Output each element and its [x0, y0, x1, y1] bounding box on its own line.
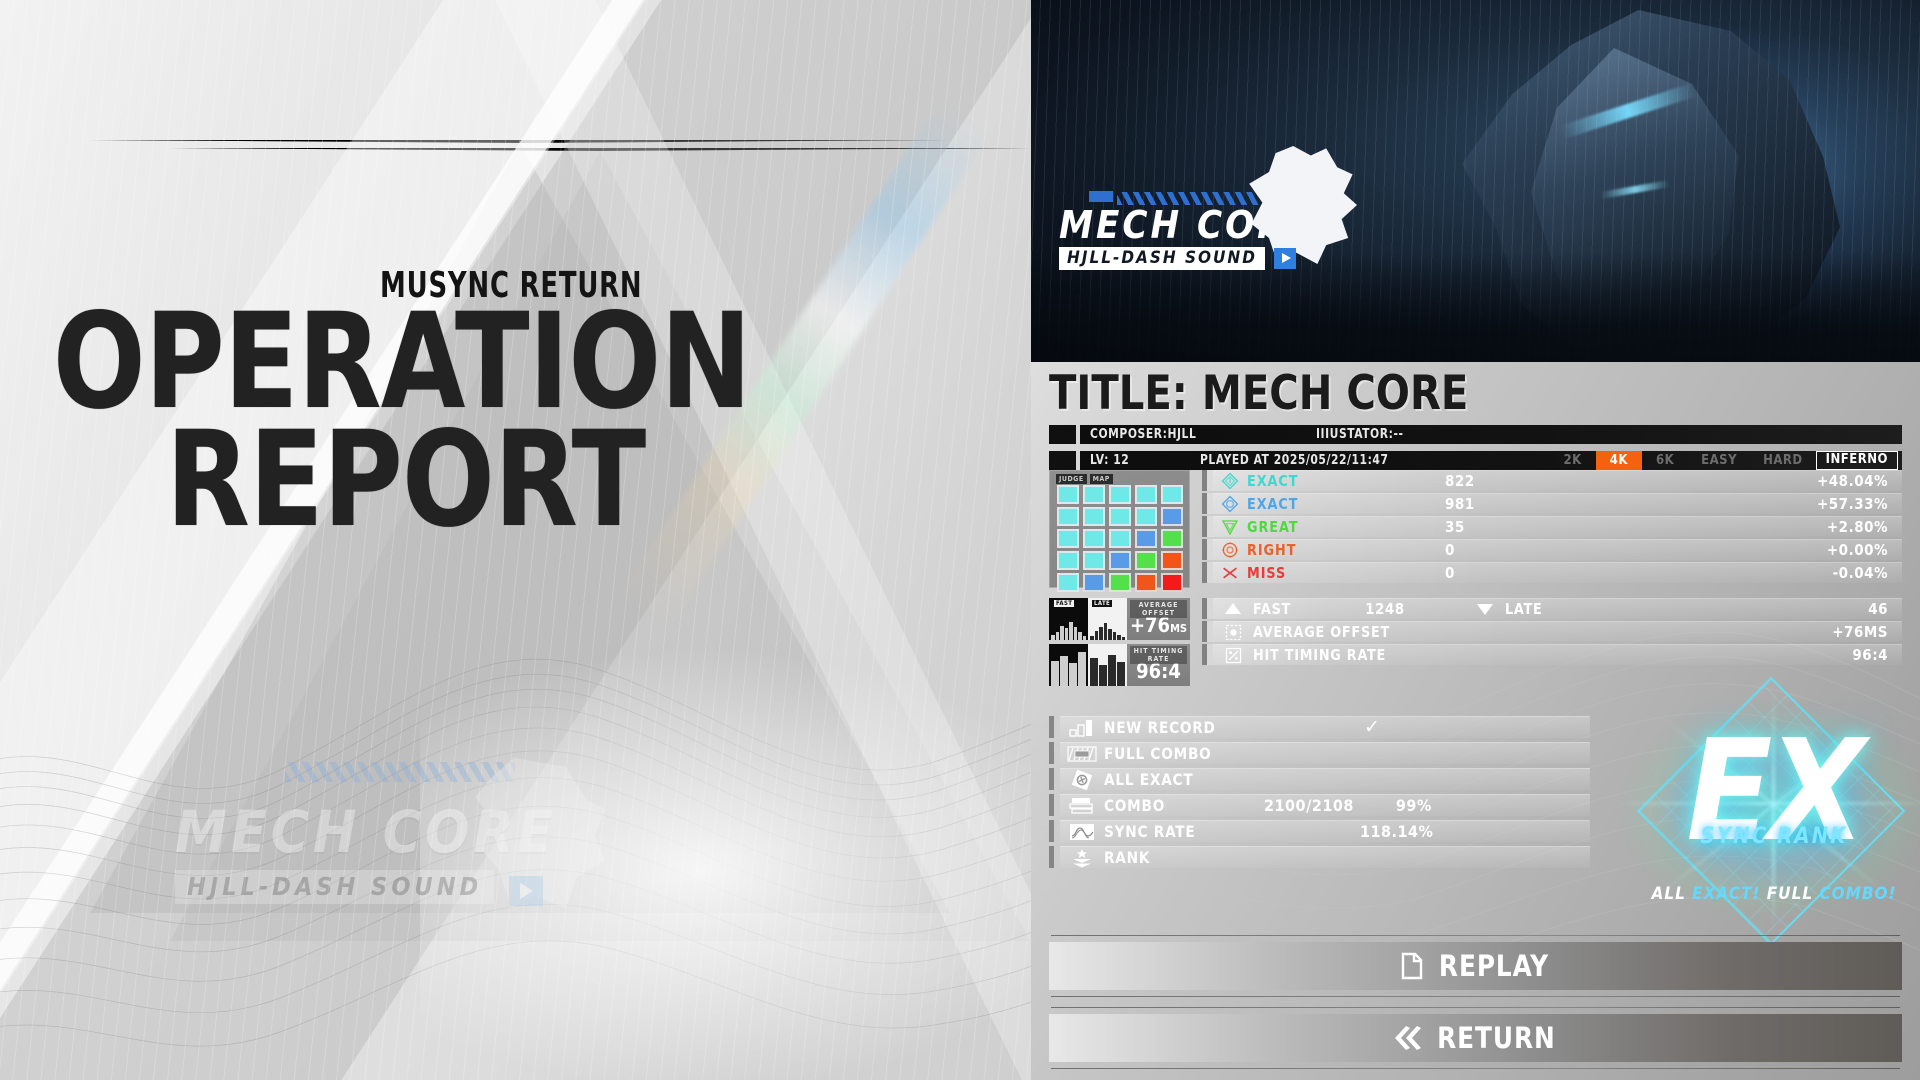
judge-map-cell [1109, 551, 1131, 570]
average-offset-unit: MS [1170, 622, 1187, 635]
hit-timing-value: 96:4 [1136, 661, 1181, 681]
timing-section: FAST LATE AVERAGE OFFSET +76MS [1049, 598, 1902, 690]
play-tab-marker [1049, 451, 1076, 470]
judgement-row: MISS 0 -0.04% [1202, 562, 1902, 583]
timing-row-value: +76MS [1832, 623, 1888, 641]
action-buttons: REPLAY RETURN [1049, 942, 1902, 1062]
hero-title-line2: REPORT [53, 422, 660, 538]
illustrator-label: IIIUSTATOR:-- [1316, 427, 1403, 442]
hit-timing-left-block [1049, 644, 1088, 686]
achievements-section: NEW RECORD ✓ FULL COMBO ALL EXACT [1049, 716, 1902, 872]
combo-percent: 99% [1396, 796, 1432, 815]
judge-map-cell [1161, 485, 1183, 504]
rank-badge: EX SYNC RANK ALL EXACT! FULL COMBO! [1624, 706, 1920, 916]
rank-tag-combo: COMBO! [1819, 884, 1896, 904]
judgement-row: EXACT 822 +48.04% [1202, 470, 1902, 491]
judgement-name: EXACT [1247, 472, 1361, 490]
rank-tag-exact: EXACT! [1692, 884, 1760, 904]
timing-row-label: AVERAGE OFFSET [1253, 623, 1390, 641]
judge-map-cell [1161, 551, 1183, 570]
judge-map-cell [1057, 551, 1079, 570]
cross-miss-icon [1213, 564, 1247, 582]
diamond-exact-icon [1213, 472, 1247, 490]
arrow-up-fast-icon [1213, 602, 1253, 616]
watermark-subtitle: HJLL-DASH SOUND [175, 870, 494, 904]
combo-icon [1060, 797, 1104, 815]
level-label: LV: 12 [1090, 453, 1191, 468]
timing-row-value: 96:4 [1852, 646, 1888, 664]
judge-map-cell [1109, 529, 1131, 548]
judge-map-cell [1057, 507, 1079, 526]
judge-map-cell [1083, 485, 1105, 504]
achievement-label: ALL EXACT [1104, 770, 1256, 789]
hit-timing-box: HIT TIMING RATE 96:4 [1049, 644, 1190, 686]
judgement-count: 0 [1445, 541, 1595, 559]
late-histogram-bars [1088, 598, 1127, 640]
jacket-logo-play-icon [1274, 248, 1296, 269]
timing-row-label: HIT TIMING RATE [1253, 646, 1386, 664]
judge-map-cell [1109, 485, 1131, 504]
rank-tag-all: ALL [1652, 884, 1686, 904]
return-button[interactable]: RETURN [1049, 1014, 1902, 1062]
judge-map-cell [1083, 507, 1105, 526]
achievement-check-icon: ✓ [1364, 718, 1380, 737]
diamond-exact-icon [1213, 495, 1247, 513]
fast-count: 1248 [1365, 600, 1405, 618]
timing-row: HIT TIMING RATE 96:4 [1202, 644, 1902, 665]
credits-bar: COMPOSER:HJLL IIIUSTATOR:-- [1080, 425, 1902, 444]
achievement-label: FULL COMBO [1104, 744, 1256, 763]
late-count: 46 [1868, 600, 1888, 618]
judge-map-cell [1161, 529, 1183, 548]
target-icon [1213, 624, 1253, 641]
late-label: LATE [1505, 600, 1543, 618]
watermark-play-icon [509, 876, 543, 906]
logo-badge-icon [1089, 191, 1113, 202]
song-credits-row: COMPOSER:HJLL IIIUSTATOR:-- [1049, 425, 1902, 444]
judge-map-cell [1161, 573, 1183, 592]
judgement-name: MISS [1247, 564, 1361, 582]
return-button-label: RETURN [1437, 1021, 1556, 1055]
combo-value: 2100/2108 [1264, 796, 1354, 815]
back-chevrons-icon [1392, 1024, 1422, 1052]
judge-map-cell [1109, 573, 1131, 592]
full-combo-icon [1060, 746, 1104, 762]
jacket-logo-subtitle: HJLL-DASH SOUND [1059, 247, 1265, 270]
judgement-name: GREAT [1247, 518, 1361, 536]
key-mode-tab-4k[interactable]: 4K [1596, 451, 1642, 470]
judgement-name: EXACT [1247, 495, 1361, 513]
result-screen: MUSYNC RETURN OPERATION REPORT MECH CORE… [0, 0, 1920, 1080]
judgement-count: 981 [1445, 495, 1595, 513]
judge-map-cell [1083, 551, 1105, 570]
judge-map-cell [1135, 529, 1157, 548]
mode-difficulty-tabs: 2K 4K 6K EASY HARD INFERNO [1550, 451, 1902, 470]
judgement-row: GREAT 35 +2.80% [1202, 516, 1902, 537]
all-exact-icon [1060, 769, 1104, 791]
judgement-count: 35 [1445, 518, 1595, 536]
song-info-block: TITLE: MECH CORE COMPOSER:HJLL IIIUSTATO… [1049, 370, 1902, 470]
judgement-count: 0 [1445, 564, 1595, 582]
rank-tag-full: FULL [1767, 884, 1813, 904]
fast-late-row: FAST 1248 LATE 46 [1202, 598, 1902, 619]
judge-map-cell [1083, 573, 1105, 592]
jacket-logo: MECH CORE HJLL-DASH SOUND [1059, 194, 1313, 270]
judgement-percent: +48.04% [1817, 472, 1888, 490]
triangle-great-icon [1213, 518, 1247, 536]
judge-map-cell [1135, 507, 1157, 526]
hit-timing-right-block [1088, 644, 1127, 686]
judgement-name: RIGHT [1247, 541, 1361, 559]
average-offset-box: FAST LATE AVERAGE OFFSET +76MS [1049, 598, 1190, 640]
sync-rate-value: 118.14% [1360, 822, 1433, 841]
judge-map-cell [1109, 507, 1131, 526]
judgement-rows: EXACT 822 +48.04% EXACT 981 +57.33% [1202, 470, 1902, 588]
replay-icon [1400, 952, 1424, 980]
offset-visualization: FAST LATE AVERAGE OFFSET +76MS [1049, 598, 1190, 690]
judge-map-labels: JUDGE MAP [1056, 474, 1113, 484]
watermark-stripes-icon [285, 762, 515, 782]
judgement-row: RIGHT 0 +0.00% [1202, 539, 1902, 560]
hit-timing-readout: HIT TIMING RATE 96:4 [1127, 644, 1190, 686]
judge-map-cell [1057, 485, 1079, 504]
hit-timing-left-bars [1049, 644, 1088, 686]
hero-watermark-logo: MECH CORE HJLL-DASH SOUND [175, 798, 557, 906]
hit-timing-right-bars [1088, 644, 1127, 686]
percent-icon [1213, 647, 1253, 664]
song-play-row: LV: 12 PLAYED AT 2025/05/22/11:47 2K 4K … [1049, 451, 1902, 470]
judge-map-label-map: MAP [1090, 474, 1113, 484]
judge-map-cell [1057, 529, 1079, 548]
judge-map-cell [1057, 573, 1079, 592]
timing-row: AVERAGE OFFSET +76MS [1202, 621, 1902, 642]
composer-label: COMPOSER:HJLL [1090, 427, 1196, 442]
sync-rate-icon [1060, 823, 1104, 841]
hit-timing-caption: HIT TIMING RATE [1130, 646, 1187, 664]
song-jacket-banner: MECH CORE HJLL-DASH SOUND [1031, 0, 1920, 362]
achievement-label: SYNC RATE [1104, 822, 1256, 841]
average-offset-caption: AVERAGE OFFSET [1130, 600, 1187, 618]
judge-map-cell [1135, 573, 1157, 592]
play-bar: LV: 12 PLAYED AT 2025/05/22/11:47 2K 4K … [1080, 451, 1902, 470]
circle-right-icon [1213, 541, 1247, 559]
hero-text-block: MUSYNC RETURN OPERATION REPORT [0, 268, 660, 538]
achievement-label: COMBO [1104, 796, 1256, 815]
rank-badge-sync-rank-label: SYNC RANK [1624, 824, 1920, 849]
average-offset-readout: AVERAGE OFFSET +76MS [1127, 598, 1190, 640]
rank-badge-tagline: ALL EXACT! FULL COMBO! [1624, 884, 1920, 904]
judgement-row: EXACT 981 +57.33% [1202, 493, 1902, 514]
achievement-label: RANK [1104, 848, 1256, 867]
hero-panel: MUSYNC RETURN OPERATION REPORT MECH CORE… [0, 0, 1031, 1080]
judge-map-cell [1135, 485, 1157, 504]
judge-map-label-judge: JUDGE [1056, 474, 1087, 484]
judgement-percent: +0.00% [1827, 541, 1888, 559]
judge-map: JUDGE MAP [1049, 470, 1190, 588]
played-at-label: PLAYED AT 2025/05/22/11:47 [1200, 453, 1389, 468]
replay-button-label: REPLAY [1438, 949, 1548, 983]
credits-tab-marker [1049, 425, 1076, 444]
late-histogram: LATE [1088, 598, 1127, 640]
judgement-count: 822 [1445, 472, 1595, 490]
judge-map-cell [1161, 507, 1183, 526]
arrow-down-late-icon [1465, 602, 1505, 616]
judge-map-cell [1135, 551, 1157, 570]
judge-map-cell [1083, 529, 1105, 548]
key-mode-tab-6k[interactable]: 6K [1642, 451, 1688, 470]
judgement-percent: +57.33% [1817, 495, 1888, 513]
fast-label: FAST [1253, 600, 1291, 618]
result-panel: MECH CORE HJLL-DASH SOUND TITLE: MECH CO… [1031, 0, 1920, 1080]
judgement-percent: -0.04% [1833, 564, 1888, 582]
difficulty-tab-inferno[interactable]: INFERNO [1816, 451, 1898, 470]
key-mode-tab-2k[interactable]: 2K [1550, 451, 1596, 470]
difficulty-tab-easy[interactable]: EASY [1688, 451, 1750, 470]
replay-button[interactable]: REPLAY [1049, 942, 1902, 990]
new-record-icon [1060, 719, 1104, 737]
judge-map-grid [1057, 485, 1184, 592]
fast-histogram-bars [1049, 598, 1088, 640]
achievement-label: NEW RECORD [1104, 718, 1256, 737]
rank-icon [1060, 848, 1104, 868]
timing-rows: FAST 1248 LATE 46 AVERAGE OFF [1202, 598, 1902, 690]
fast-histogram: FAST [1049, 598, 1088, 640]
difficulty-tab-hard[interactable]: HARD [1750, 451, 1816, 470]
judgement-section: JUDGE MAP EXACT 822 +48.04% [1049, 470, 1902, 588]
judgement-percent: +2.80% [1827, 518, 1888, 536]
song-title: TITLE: MECH CORE [1049, 370, 1859, 418]
